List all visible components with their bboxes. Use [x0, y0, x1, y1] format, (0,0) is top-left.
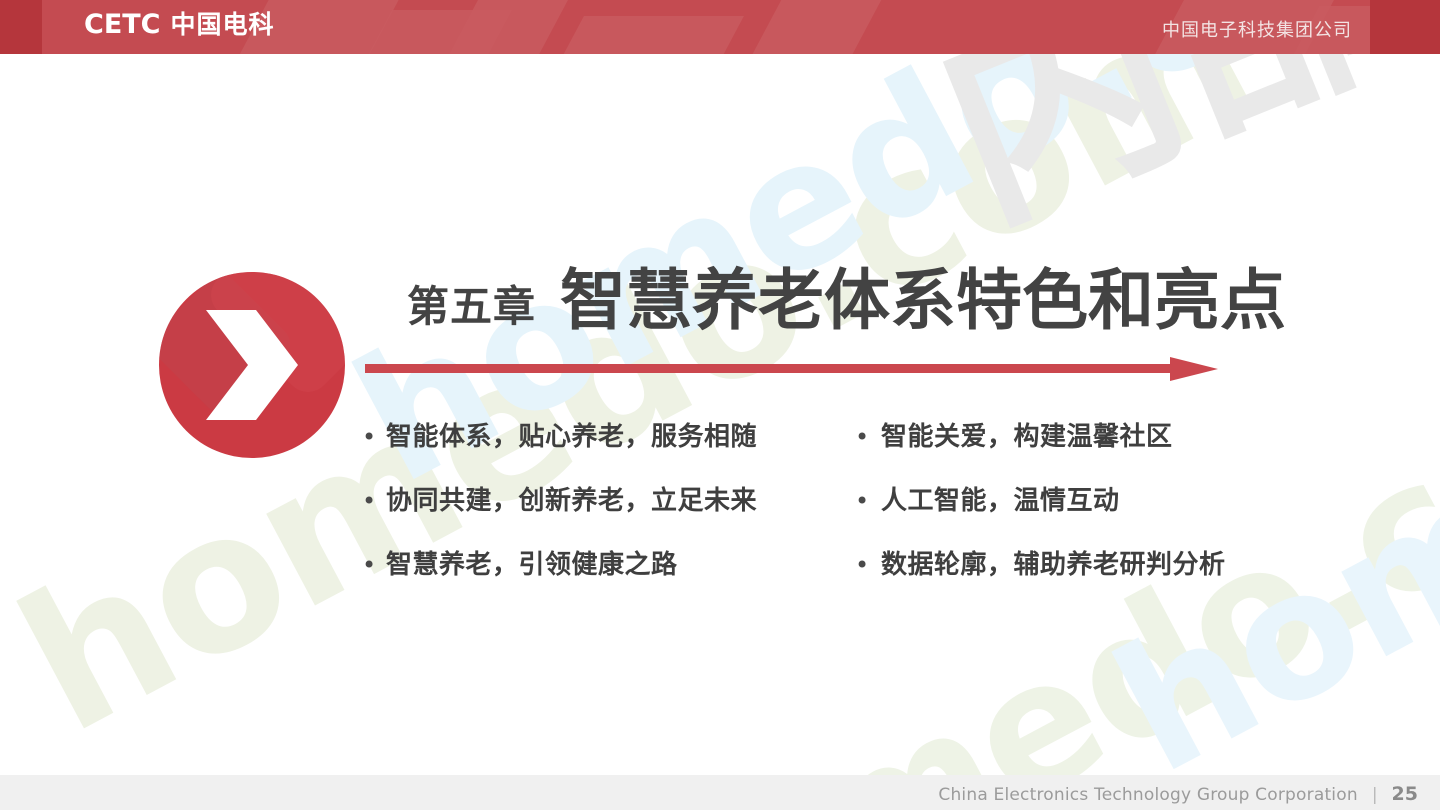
- bullet-dot-icon: •: [350, 420, 386, 454]
- list-item: • 智慧养老，引领健康之路: [350, 548, 845, 612]
- header-edge-right: [1370, 0, 1440, 54]
- footer-company-text: China Electronics Technology Group Corpo…: [938, 785, 1357, 805]
- bullet-text: 智能体系，贴心养老，服务相随: [386, 420, 757, 454]
- slide-title-row: 第五章 智慧养老体系特色和亮点: [407, 268, 1286, 334]
- chevron-right-icon: [159, 272, 345, 458]
- list-item: • 协同共建，创新养老，立足未来: [350, 484, 845, 548]
- bullet-dot-icon: •: [845, 420, 881, 454]
- footer-separator: |: [1372, 785, 1378, 805]
- bullet-text: 人工智能，温情互动: [881, 484, 1120, 518]
- cetc-logo: CETC 中国电科: [84, 11, 275, 38]
- list-item: • 智能关爱，构建温馨社区: [845, 420, 1340, 484]
- slide-content: 第五章 智慧养老体系特色和亮点 • 智能体系，贴心养老，服务相随 • 协同共建，…: [0, 0, 1440, 810]
- slide-canvas: homedo.com homedo.com homedo.com homedo.…: [0, 0, 1440, 810]
- footer-content: China Electronics Technology Group Corpo…: [938, 783, 1418, 805]
- bullet-text: 协同共建，创新养老，立足未来: [386, 484, 757, 518]
- title-underline-arrow: [365, 361, 1217, 376]
- bullet-grid: • 智能体系，贴心养老，服务相随 • 协同共建，创新养老，立足未来 • 智慧养老…: [350, 420, 1340, 612]
- arrowhead-icon: [1170, 357, 1218, 381]
- logo-chinese-name: 中国电科: [171, 12, 275, 37]
- bullet-column-right: • 智能关爱，构建温馨社区 • 人工智能，温情互动 • 数据轮廓，辅助养老研判分…: [845, 420, 1340, 612]
- page-number: 25: [1392, 783, 1418, 805]
- page-title: 智慧养老体系特色和亮点: [560, 268, 1286, 334]
- bullet-dot-icon: •: [350, 484, 386, 518]
- bullet-dot-icon: •: [845, 484, 881, 518]
- list-item: • 数据轮廓，辅助养老研判分析: [845, 548, 1340, 612]
- header-band: CETC 中国电科 中国电子科技集团公司: [0, 0, 1440, 54]
- underline-bar: [365, 364, 1180, 373]
- logo-wordmark: CETC: [84, 11, 161, 38]
- bullet-text: 数据轮廓，辅助养老研判分析: [881, 548, 1226, 582]
- chevron-medallion: [159, 272, 345, 458]
- bullet-column-left: • 智能体系，贴心养老，服务相随 • 协同共建，创新养老，立足未来 • 智慧养老…: [350, 420, 845, 612]
- bullet-text: 智慧养老，引领健康之路: [386, 548, 678, 582]
- footer-band: China Electronics Technology Group Corpo…: [0, 775, 1440, 810]
- chapter-label: 第五章: [407, 286, 536, 334]
- header-edge-left: [0, 0, 42, 54]
- header-company-name: 中国电子科技集团公司: [1162, 16, 1352, 42]
- bullet-dot-icon: •: [350, 548, 386, 582]
- list-item: • 智能体系，贴心养老，服务相随: [350, 420, 845, 484]
- bullet-text: 智能关爱，构建温馨社区: [881, 420, 1173, 454]
- header-decor-shape: [728, 0, 892, 54]
- bullet-dot-icon: •: [845, 548, 881, 582]
- list-item: • 人工智能，温情互动: [845, 484, 1340, 548]
- header-decor-shape: [536, 16, 744, 54]
